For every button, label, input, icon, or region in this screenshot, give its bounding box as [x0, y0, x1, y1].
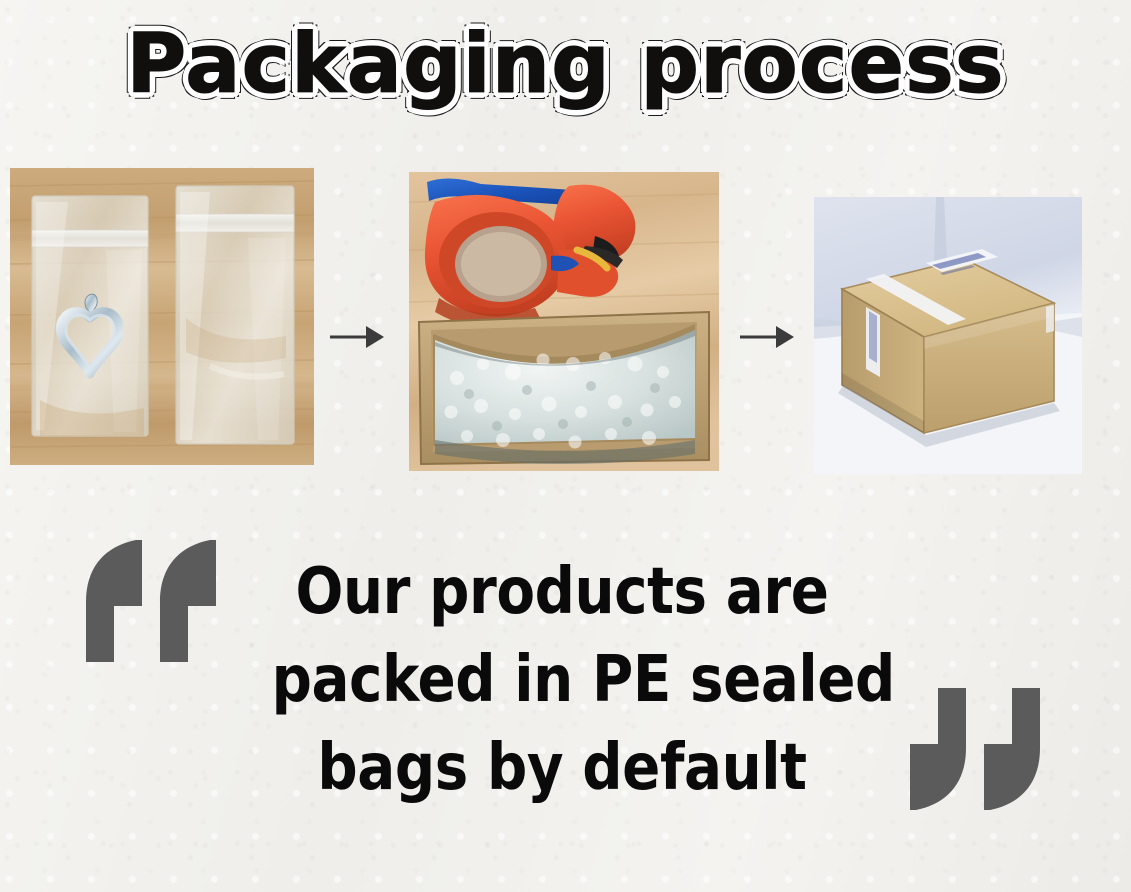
right-double-quote-icon [908, 688, 1042, 810]
arrow-right-icon [740, 317, 796, 357]
quote-text: Our products are packed in PE sealed bag… [232, 548, 892, 812]
quote-line-1: Our products are [272, 548, 853, 636]
arrow-right-icon-1 [330, 317, 386, 357]
pe-sealed-bags-photo [10, 168, 314, 465]
quote-line-3: bags by default [272, 724, 853, 812]
arrow-right-icon-2 [740, 317, 796, 357]
packaging-process-banner: Packaging process [0, 0, 1131, 892]
sealed-carton-illustration [814, 197, 1082, 474]
bubble-wrap-box-photo [409, 172, 719, 471]
left-double-quote-icon [84, 540, 218, 662]
bubble-wrap-box-illustration [409, 172, 719, 471]
page-title: Packaging process [0, 24, 1131, 106]
sealed-carton-photo [814, 197, 1082, 474]
quote-line-2: packed in PE sealed [272, 636, 853, 724]
quote-close-icon [908, 688, 1042, 810]
pe-sealed-bags-illustration [10, 168, 314, 465]
arrow-right-icon [330, 317, 386, 357]
quote-open-icon [84, 540, 218, 662]
